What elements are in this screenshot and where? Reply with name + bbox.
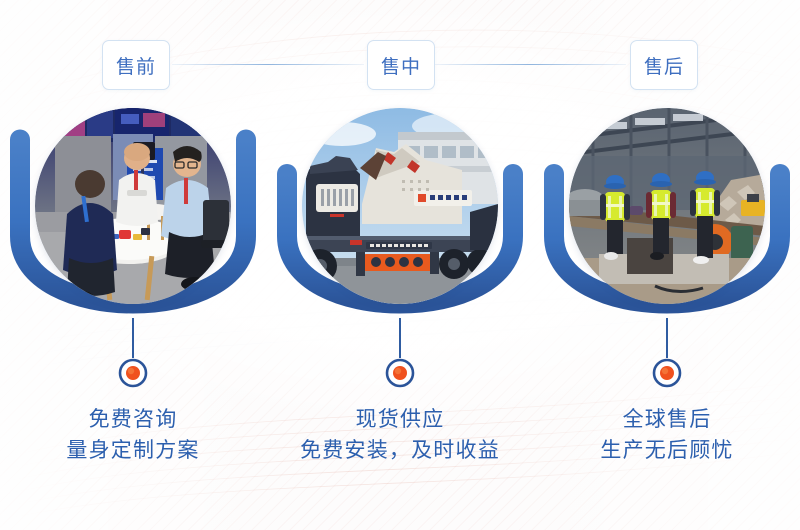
photo-frame-1 (35, 108, 231, 304)
caption-line-1: 免费咨询 (0, 404, 266, 435)
step-column-after-sale: 全球售后 生产无后顾忧 (534, 0, 800, 530)
node-stem-3 (666, 318, 668, 358)
photo-frame-3 (569, 108, 765, 304)
photo-frame-2 (302, 108, 498, 304)
step-caption-1: 免费咨询 量身定制方案 (0, 404, 266, 466)
timeline-node-1[interactable] (116, 356, 150, 390)
consultation-photo (35, 108, 231, 304)
caption-line-1: 全球售后 (534, 404, 800, 435)
timeline-node-2[interactable] (383, 356, 417, 390)
step-caption-3: 全球售后 生产无后顾忧 (534, 404, 800, 466)
infographic-stage: 售前 售中 售后 (0, 0, 800, 530)
timeline-node-3[interactable] (650, 356, 684, 390)
site-service-photo (569, 108, 765, 304)
caption-line-1: 现货供应 (267, 404, 533, 435)
node-stem-2 (399, 318, 401, 358)
step-column-pre-sale: 免费咨询 量身定制方案 (0, 0, 266, 530)
mobile-crusher-photo (302, 108, 498, 304)
step-caption-2: 现货供应 免费安装，及时收益 (267, 404, 533, 466)
caption-line-2: 免费安装，及时收益 (267, 435, 533, 466)
step-column-in-sale: 现货供应 免费安装，及时收益 (267, 0, 533, 530)
node-stem-1 (132, 318, 134, 358)
caption-line-2: 生产无后顾忧 (534, 435, 800, 466)
caption-line-2: 量身定制方案 (0, 435, 266, 466)
